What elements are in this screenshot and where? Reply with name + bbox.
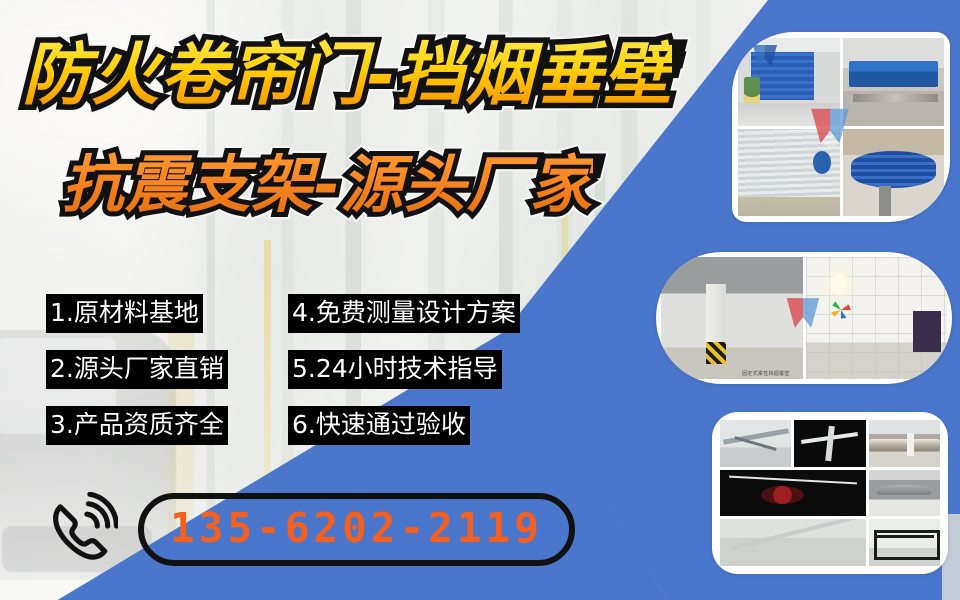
feature-label-5: 5.24小时技术指导 xyxy=(288,350,502,389)
photo-blue-rolling-shutter-door xyxy=(738,38,840,126)
feature-label-1: 1.原材料基地 xyxy=(46,294,203,333)
phone-call-icon xyxy=(44,492,118,566)
feature-label-6: 6.快速通过验收 xyxy=(288,406,470,445)
photo-white-ceiling-interior xyxy=(806,257,948,379)
fire-shutter-products-collage xyxy=(732,32,950,222)
seismic-bracing-collage xyxy=(712,412,948,574)
photo-fan-duct-bracing xyxy=(720,470,866,517)
feature-item-6: 6.快速通过验收 xyxy=(288,406,556,462)
photo-roll-forming-machine xyxy=(843,38,945,126)
contact-phone-row[interactable]: 135-6202-2119 xyxy=(44,492,575,566)
feature-label-3: 3.产品资质齐全 xyxy=(46,406,228,445)
installation-sites-collage xyxy=(656,252,952,384)
collage-middle-caption: 固定式柔性挡烟垂壁 xyxy=(742,370,790,377)
photo-ceiling-duct-support xyxy=(869,470,940,517)
headline-primary: 防火卷帘门-挡烟垂壁 xyxy=(22,38,672,114)
photo-ceiling-pipe-bracing xyxy=(720,420,791,467)
pinwheel-decoration-icon xyxy=(830,300,852,320)
feature-item-1: 1.原材料基地 xyxy=(46,294,288,350)
feature-item-5: 5.24小时技术指导 xyxy=(288,350,556,406)
phone-number-pill[interactable]: 135-6202-2119 xyxy=(138,493,575,566)
feature-item-2: 2.源头厂家直销 xyxy=(46,350,288,406)
feature-label-2: 2.源头厂家直销 xyxy=(46,350,228,389)
phone-number: 135-6202-2119 xyxy=(170,503,543,553)
photo-frame-brace-room xyxy=(869,519,940,566)
photo-pipe-clamp-hanger xyxy=(869,420,940,467)
photo-dual-pipe-brace-detail xyxy=(794,420,865,467)
photo-trunking-brace-install xyxy=(720,519,866,566)
photo-underground-parking-garage xyxy=(661,257,803,379)
feature-item-4: 4.免费测量设计方案 xyxy=(288,294,556,350)
feature-list: 1.原材料基地 4.免费测量设计方案 2.源头厂家直销 5.24小时技术指导 3… xyxy=(46,294,556,462)
headline-secondary: 抗震支架-源头厂家 xyxy=(62,150,593,220)
feature-label-4: 4.免费测量设计方案 xyxy=(288,294,520,333)
photo-blue-coil-roll xyxy=(843,129,945,217)
promotional-poster: 防火卷帘门-挡烟垂壁 防火卷帘门-挡烟垂壁 防火卷帘门-挡烟垂壁 抗震支架-源头… xyxy=(0,0,960,600)
feature-item-3: 3.产品资质齐全 xyxy=(46,406,288,462)
photo-steel-shutter-corridor xyxy=(738,129,840,217)
